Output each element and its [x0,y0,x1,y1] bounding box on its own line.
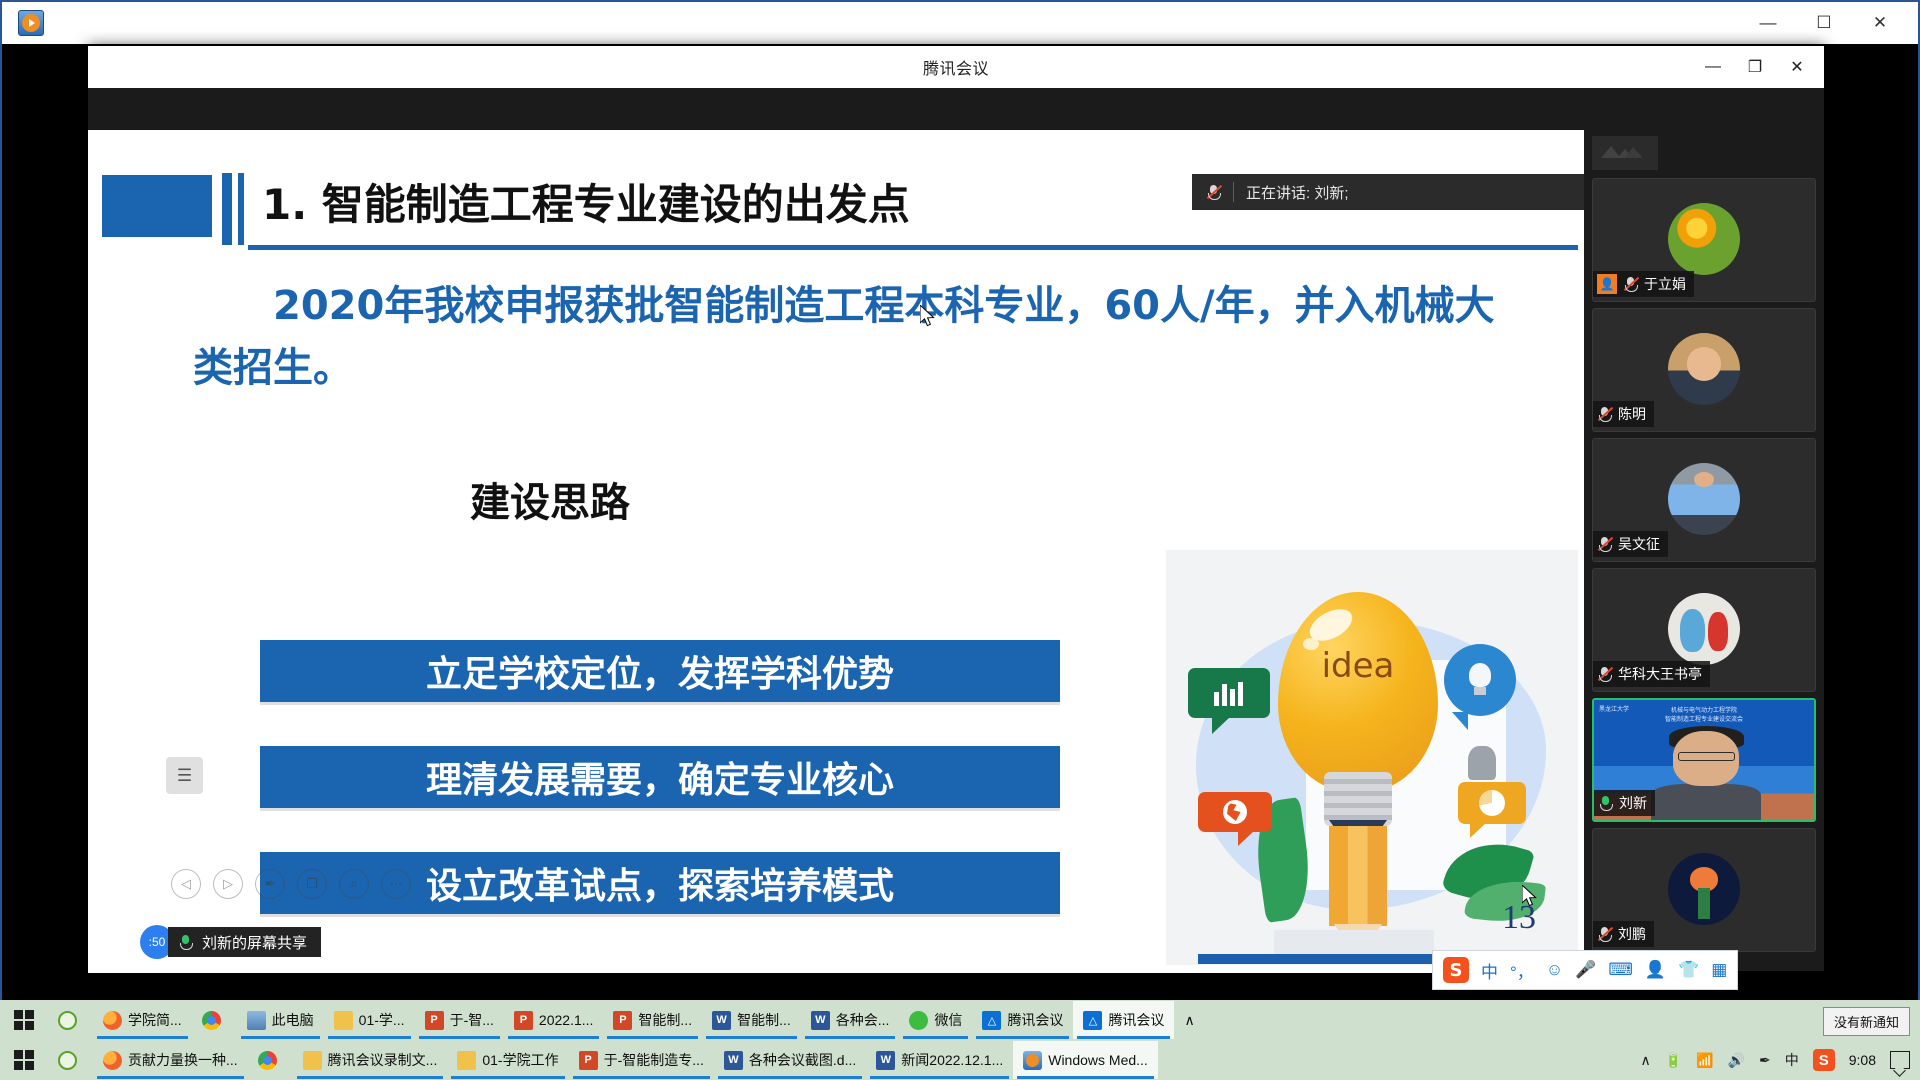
more-options-button[interactable]: ⋯ [381,869,411,899]
tray-expand-button[interactable]: ∧ [1640,1052,1650,1069]
taskbar-item-label: 01-学院工作 [482,1050,558,1070]
meeting-close-button[interactable]: ✕ [1776,46,1818,88]
ime-punctuation-toggle[interactable]: °， [1510,958,1534,983]
pie-chart-bubble-icon [1458,782,1526,824]
taskbar-item-windows-media-player[interactable]: Windows Med... [1013,1041,1158,1079]
title-underline [248,245,1578,250]
screen-share-indicator[interactable]: 刘新的屏幕共享 [168,927,321,957]
participant-name: 刘新 [1619,793,1647,813]
mic-muted-icon [1597,666,1612,682]
wmp-titlebar: — ☐ ✕ [2,2,1918,44]
mic-on-icon [178,934,193,950]
mic-muted-icon [1623,276,1638,292]
media-player-icon [1023,1051,1042,1070]
tencent-meeting-window: 腾讯会议 — ❐ ✕ 1. 智能制造工程专业建设的出发点 2020年我校申报获批… [88,46,1824,971]
taskbar-item-label: 腾讯会议 [1007,1010,1063,1030]
participant-tile-active-speaker[interactable]: 黑龙江大学 机械与电气动力工程学院 智能制造工程专业建设交流会 刘新 [1592,698,1816,822]
participant-name: 刘鹏 [1618,924,1646,944]
video-caption-line-2: 智能制造工程专业建设交流会 [1594,716,1814,725]
meeting-window-controls: — ❐ ✕ [1692,46,1818,88]
taskbar-item-label: 腾讯会议录制文... [328,1050,438,1070]
taskbar-item-label: Windows Med... [1048,1052,1148,1068]
taskbar-item-ppt-2[interactable]: P 2022.1... [504,1001,604,1039]
participant-tile[interactable]: 陈明 [1592,308,1816,432]
word-icon: W [876,1051,895,1070]
taskbar-item-firefox[interactable]: 贡献力量换一种... [93,1041,248,1079]
taskbar-item-word-1[interactable]: W 智能制... [702,1001,801,1039]
slide-body-text: 2020年我校申报获批智能制造工程本科专业，60人/年，并入机械大类招生。 [193,275,1523,399]
taskbar-item-folder-01[interactable]: 01-学院工作 [447,1041,568,1079]
taskbar-item-label: 腾讯会议 [1108,1010,1164,1030]
host-badge-icon: 👤 [1597,274,1617,294]
taskbar-item-word-1[interactable]: W 各种会议截图.d... [714,1041,866,1079]
taskbar-item-label: 智能制... [638,1010,692,1030]
toolbox-icon[interactable]: ▦ [1711,960,1727,980]
video-caption-line-1: 机械与电气动力工程学院 [1594,707,1814,716]
start-button[interactable] [0,1000,48,1040]
screenshot-icon[interactable]: 👤 [1645,960,1666,980]
volume-icon[interactable]: 🔊 [1728,1052,1745,1069]
word-icon: W [712,1011,731,1030]
meeting-minimize-button[interactable]: — [1692,46,1734,88]
title-accent-bar-2 [238,173,244,245]
lightbulb-icon [1278,592,1438,792]
taskbar-item-ppt-1[interactable]: P 于-智... [415,1001,504,1039]
taskbar-item-chrome[interactable] [248,1041,293,1079]
participant-tile[interactable]: 👤 于立娟 [1592,178,1816,302]
taskbar-item-label: 于-智... [450,1010,494,1030]
firefox-icon [103,1051,122,1070]
chrome-icon [202,1011,221,1030]
sogou-ime-bar-upper[interactable]: S 中 °， ☺ 🎤 ⌨ 👤 👕 ▦ [1432,950,1738,990]
prev-slide-button[interactable]: ◁ [171,869,201,899]
taskbar-item-ppt[interactable]: P 于-智能制造专... [569,1041,714,1079]
participant-name-chip: 吴文征 [1593,531,1668,557]
participant-name: 于立娟 [1644,274,1686,294]
taskbar-item-ppt-3[interactable]: P 智能制... [603,1001,702,1039]
powerpoint-icon: P [579,1051,598,1070]
taskbar-item-ie[interactable] [48,1041,93,1079]
wmp-window-controls: — ☐ ✕ [1740,2,1908,44]
avatar [1668,203,1740,275]
mic-muted-icon [1597,406,1612,422]
start-button[interactable] [0,1040,48,1080]
participant-name-chip: 刘鹏 [1593,921,1654,947]
mic-on-icon [1598,795,1613,811]
taskbar-item-ie[interactable] [48,1001,93,1039]
taskbar-item-wechat[interactable]: 微信 [899,1001,972,1039]
meeting-stage: 1. 智能制造工程专业建设的出发点 2020年我校申报获批智能制造工程本科专业，… [88,88,1824,971]
taskbar-item-word-2[interactable]: W 新闻2022.12.1... [866,1041,1013,1079]
ie-icon [58,1011,77,1030]
taskbar-item-label: 贡献力量换一种... [128,1050,238,1070]
taskbar-item-tencent-meeting-1[interactable]: △ 腾讯会议 [972,1001,1073,1039]
title-accent-block [102,175,212,237]
bar-chart-bubble-icon [1188,668,1270,718]
participant-name: 陈明 [1618,404,1646,424]
participant-strip: 👤 于立娟 陈明 吴文征 [1584,130,1824,971]
bulb-label: idea [1278,646,1438,686]
slide-title: 1. 智能制造工程专业建设的出发点 [262,171,910,232]
taskbar-outer: 贡献力量换一种... 腾讯会议录制文... 01-学院工作 P 于-智能制造专.… [0,1040,1920,1080]
zoom-tool-button[interactable]: ⌕ [339,869,369,899]
taskbar-item-label: 微信 [934,1010,962,1030]
pencil-icon [1329,826,1387,926]
tencent-meeting-icon: △ [982,1011,1001,1030]
shared-slide: 1. 智能制造工程专业建设的出发点 2020年我校申报获批智能制造工程本科专业，… [88,130,1584,973]
next-slide-button[interactable]: ▷ [213,869,243,899]
taskbar-inner: 学院简... 此电脑 01-学... P 于-智... P 2022.1... … [0,1000,1920,1040]
clock[interactable]: 9:08 [1849,1052,1876,1068]
bullet-bar: 理清发展需要，确定专业核心 [260,746,1060,808]
lightbulb-bubble-icon [1444,644,1516,716]
mic-muted-icon [1206,184,1221,200]
explorer-icon [247,1011,266,1030]
participant-name-chip: 陈明 [1593,401,1654,427]
participant-name-chip: 刘新 [1594,790,1655,816]
speaking-banner: 正在讲话: 刘新; [1192,174,1584,210]
tencent-meeting-icon: △ [1083,1011,1102,1030]
word-icon: W [811,1011,830,1030]
participant-tile[interactable]: 吴文征 [1592,438,1816,562]
tray-expand-inner[interactable]: ∧ [1174,1001,1204,1039]
chevron-up-icon: ∧ [1184,1012,1194,1029]
ie-icon [58,1051,77,1070]
slide-menu-button[interactable]: ☰ [166,757,203,794]
participant-tile[interactable]: 刘鹏 [1592,828,1816,952]
mic-muted-icon [1597,536,1612,552]
taskbar-item-label: 此电脑 [272,1010,314,1030]
pen-tool-button[interactable]: ✒ [255,869,285,899]
slide-page-number: 13 [1502,899,1536,937]
notification-flag-icon[interactable] [1890,1051,1910,1069]
media-player-icon [18,10,44,36]
slide-subheading: 建设思路 [470,470,630,528]
taskbar-item-tencent-meeting-2[interactable]: △ 腾讯会议 [1073,1001,1174,1039]
voice-input-icon[interactable]: 🎤 [1575,960,1596,980]
avatar [1668,333,1740,405]
participant-name: 华科大王书亭 [1618,664,1702,684]
word-icon: W [724,1051,743,1070]
wmp-maximize-button[interactable]: ☐ [1796,2,1852,44]
taskbar-item-label: 各种会... [836,1010,890,1030]
taskbar-item-label: 学院简... [128,1010,182,1030]
mic-muted-icon [1597,926,1612,942]
taskbar-item-label: 01-学... [359,1010,405,1030]
participant-tile[interactable]: 华科大王书亭 [1592,568,1816,692]
screen-share-label: 刘新的屏幕共享 [202,932,307,953]
taskbar-item-label: 于-智能制造专... [604,1050,704,1070]
powerpoint-icon: P [425,1011,444,1030]
avatar [1668,593,1740,665]
avatar [1668,463,1740,535]
participant-name-chip: 华科大王书亭 [1593,661,1710,687]
battery-icon[interactable]: 🔋 [1665,1052,1682,1069]
ime-mode-toggle[interactable]: 中 [1481,958,1498,983]
presenter-toolbar: ◁ ▷ ✒ ❐ ⌕ ⋯ [171,869,411,899]
speaking-label: 正在讲话: 刘新; [1246,182,1349,203]
wmp-minimize-button[interactable]: — [1740,2,1796,44]
sogou-icon[interactable]: S [1443,957,1469,983]
screen: — ☐ ✕ 腾讯会议 — ❐ ✕ 1. 智能制造工程专业建 [0,0,1920,1080]
firefox-icon [103,1011,122,1030]
taskbar-item-this-pc[interactable]: 此电脑 [237,1001,324,1039]
powerpoint-icon: P [613,1011,632,1030]
notification-tooltip: 没有新通知 [1823,1007,1910,1036]
taskbar-item-chrome[interactable] [192,1001,237,1039]
meeting-titlebar: 腾讯会议 — ❐ ✕ [88,46,1824,88]
participant-name-chip: 👤 于立娟 [1593,271,1694,297]
bullet-bar: 立足学校定位，发挥学科优势 [260,640,1060,702]
folder-icon [334,1011,353,1030]
taskbar-item-label: 智能制... [737,1010,791,1030]
skin-icon[interactable]: 👕 [1678,960,1699,980]
folder-icon [303,1051,322,1070]
video-caption: 机械与电气动力工程学院 智能制造工程专业建设交流会 [1594,707,1814,725]
taskbar-item-label: 新闻2022.12.1... [901,1050,1003,1070]
emoji-icon[interactable]: ☺ [1546,960,1563,980]
taskbar-item-folder-recordings[interactable]: 腾讯会议录制文... [293,1041,448,1079]
wifi-icon[interactable]: 📶 [1696,1052,1713,1069]
title-accent-bar-1 [222,173,232,245]
participant-name: 吴文征 [1618,534,1660,554]
globe-bubble-icon [1198,792,1272,832]
wechat-icon [909,1011,928,1030]
wmp-close-button[interactable]: ✕ [1852,2,1908,44]
slide-bullet-bars: 立足学校定位，发挥学科优势 理清发展需要，确定专业核心 设立改革试点，探索培养模… [260,640,1060,958]
meeting-title: 腾讯会议 [923,55,989,79]
sogou-icon[interactable]: S [1813,1049,1835,1071]
slide-overview-button[interactable]: ❐ [297,869,327,899]
folder-icon [457,1051,476,1070]
avatar [1668,853,1740,925]
tencent-meeting-logo-icon [1592,136,1658,170]
soft-keyboard-icon[interactable]: ⌨ [1608,960,1633,980]
ime-chinese-icon[interactable]: 中 [1785,1050,1799,1070]
taskbar-item-folder-01[interactable]: 01-学... [324,1001,415,1039]
taskbar-item-word-2[interactable]: W 各种会... [801,1001,900,1039]
powerpoint-icon: P [514,1011,533,1030]
system-tray: ∧ 🔋 📶 🔊 ✒ 中 S 9:08 [1640,1049,1920,1071]
chrome-icon [258,1051,277,1070]
taskbar-item-firefox[interactable]: 学院简... [93,1001,192,1039]
meeting-restore-button[interactable]: ❐ [1734,46,1776,88]
pen-icon[interactable]: ✒ [1759,1052,1771,1069]
taskbar-item-label: 各种会议截图.d... [749,1050,856,1070]
taskbar-item-label: 2022.1... [539,1012,594,1028]
